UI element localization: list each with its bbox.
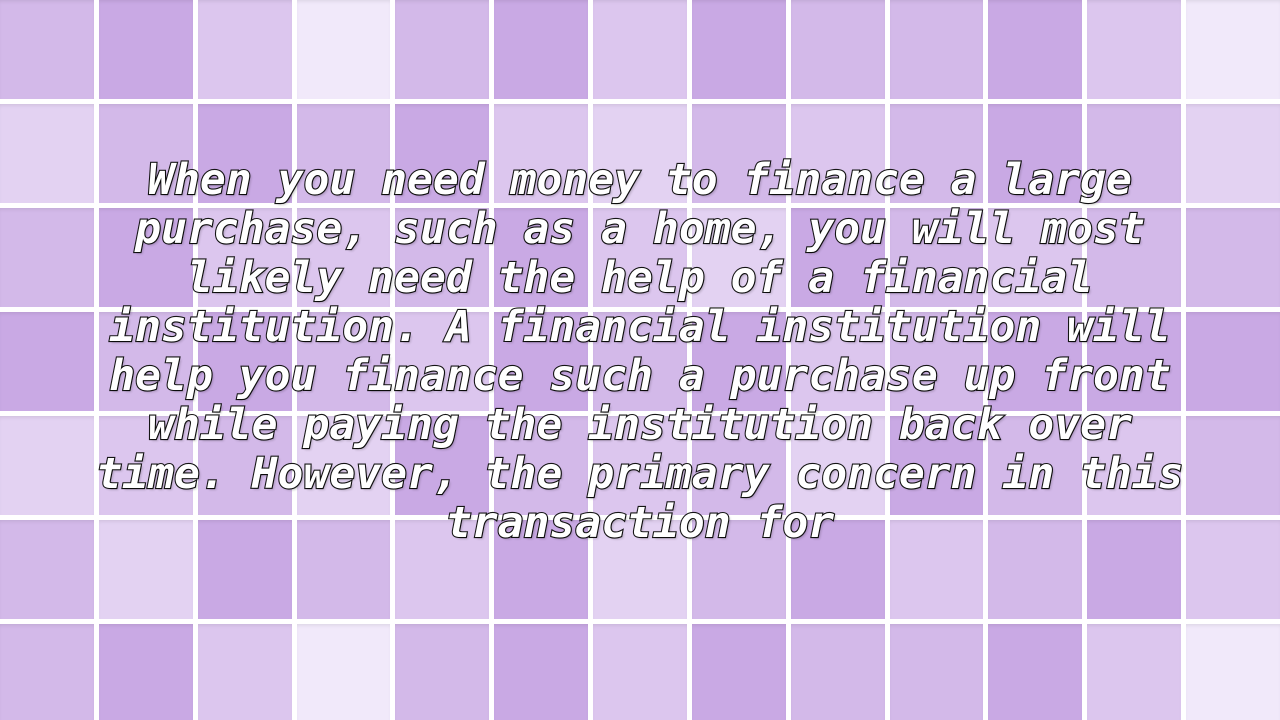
tile-r6-c13 <box>1186 520 1280 619</box>
tile-r2-c7 <box>593 104 687 203</box>
tile-r7-c9 <box>791 624 885 720</box>
tile-r4-c10 <box>890 312 984 411</box>
tile-r1-c13 <box>1186 0 1280 99</box>
tile-r4-c9 <box>791 312 885 411</box>
tile-r3-c3 <box>198 208 292 307</box>
tile-r1-c12 <box>1087 0 1181 99</box>
tile-r4-c1 <box>0 312 94 411</box>
tile-r5-c10 <box>890 416 984 515</box>
tile-r5-c1 <box>0 416 94 515</box>
tile-r3-c2 <box>99 208 193 307</box>
tile-r5-c2 <box>99 416 193 515</box>
tile-r2-c12 <box>1087 104 1181 203</box>
tile-r5-c6 <box>494 416 588 515</box>
tile-r6-c4 <box>297 520 391 619</box>
tile-r5-c11 <box>988 416 1082 515</box>
tile-r4-c12 <box>1087 312 1181 411</box>
tile-r4-c6 <box>494 312 588 411</box>
tile-r4-c3 <box>198 312 292 411</box>
tile-r7-c3 <box>198 624 292 720</box>
tile-r5-c13 <box>1186 416 1280 515</box>
tile-r4-c5 <box>395 312 489 411</box>
tile-r2-c5 <box>395 104 489 203</box>
tile-r7-c7 <box>593 624 687 720</box>
tile-r3-c9 <box>791 208 885 307</box>
tile-r7-c12 <box>1087 624 1181 720</box>
tile-r4-c11 <box>988 312 1082 411</box>
tile-r3-c13 <box>1186 208 1280 307</box>
tile-r7-c13 <box>1186 624 1280 720</box>
tile-r2-c1 <box>0 104 94 203</box>
tile-r6-c7 <box>593 520 687 619</box>
tile-r1-c5 <box>395 0 489 99</box>
tile-r5-c4 <box>297 416 391 515</box>
tile-r2-c13 <box>1186 104 1280 203</box>
tile-r1-c8 <box>692 0 786 99</box>
tile-r1-c9 <box>791 0 885 99</box>
tile-r1-c6 <box>494 0 588 99</box>
tile-r7-c8 <box>692 624 786 720</box>
tile-r4-c7 <box>593 312 687 411</box>
tile-grid-background <box>0 0 1280 720</box>
tile-r5-c3 <box>198 416 292 515</box>
tile-r6-c1 <box>0 520 94 619</box>
tile-r1-c1 <box>0 0 94 99</box>
tile-r7-c2 <box>99 624 193 720</box>
tile-r4-c4 <box>297 312 391 411</box>
tile-r2-c11 <box>988 104 1082 203</box>
tile-r3-c1 <box>0 208 94 307</box>
tile-r3-c7 <box>593 208 687 307</box>
tile-r6-c8 <box>692 520 786 619</box>
tile-r3-c12 <box>1087 208 1181 307</box>
tile-r1-c10 <box>890 0 984 99</box>
quote-card: When you need money to finance a large p… <box>0 0 1280 720</box>
tile-r3-c8 <box>692 208 786 307</box>
tile-r7-c5 <box>395 624 489 720</box>
tile-r1-c4 <box>297 0 391 99</box>
tile-r6-c11 <box>988 520 1082 619</box>
tile-r5-c12 <box>1087 416 1181 515</box>
tile-r1-c2 <box>99 0 193 99</box>
tile-r4-c2 <box>99 312 193 411</box>
tile-r6-c9 <box>791 520 885 619</box>
tile-r7-c4 <box>297 624 391 720</box>
tile-r7-c6 <box>494 624 588 720</box>
tile-r6-c3 <box>198 520 292 619</box>
tile-r6-c12 <box>1087 520 1181 619</box>
tile-r5-c7 <box>593 416 687 515</box>
tile-r6-c5 <box>395 520 489 619</box>
tile-r2-c10 <box>890 104 984 203</box>
tile-r3-c4 <box>297 208 391 307</box>
tile-r5-c8 <box>692 416 786 515</box>
tile-r6-c6 <box>494 520 588 619</box>
tile-r2-c4 <box>297 104 391 203</box>
tile-r3-c10 <box>890 208 984 307</box>
tile-r3-c6 <box>494 208 588 307</box>
tile-r1-c3 <box>198 0 292 99</box>
tile-r3-c5 <box>395 208 489 307</box>
tile-r2-c8 <box>692 104 786 203</box>
tile-r5-c9 <box>791 416 885 515</box>
tile-r7-c11 <box>988 624 1082 720</box>
tile-r6-c2 <box>99 520 193 619</box>
tile-r1-c7 <box>593 0 687 99</box>
tile-r2-c6 <box>494 104 588 203</box>
tile-r7-c10 <box>890 624 984 720</box>
tile-r1-c11 <box>988 0 1082 99</box>
tile-r5-c5 <box>395 416 489 515</box>
tile-r7-c1 <box>0 624 94 720</box>
tile-r3-c11 <box>988 208 1082 307</box>
tile-r2-c2 <box>99 104 193 203</box>
tile-r2-c3 <box>198 104 292 203</box>
tile-r4-c13 <box>1186 312 1280 411</box>
tile-r2-c9 <box>791 104 885 203</box>
tile-r4-c8 <box>692 312 786 411</box>
tile-r6-c10 <box>890 520 984 619</box>
